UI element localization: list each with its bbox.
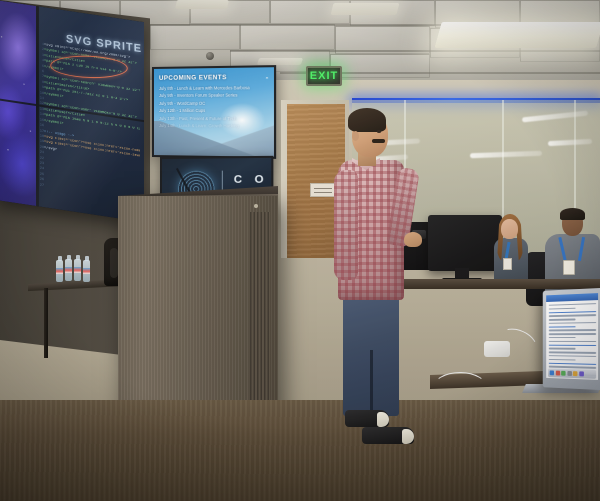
presenter-hand <box>404 232 422 247</box>
dock-icon[interactable] <box>561 371 565 376</box>
water-bottle <box>83 260 90 282</box>
dock-icon[interactable] <box>550 370 554 375</box>
macbook-laptop[interactable] <box>543 288 600 390</box>
ceiling-light-main <box>434 22 600 48</box>
exit-sign: EXIT <box>306 66 342 86</box>
desk-monitor-primary <box>428 215 502 271</box>
podium-vent <box>250 212 270 422</box>
attendee-woman-head <box>501 219 518 239</box>
laptop-document-text <box>549 303 596 378</box>
events-list: July 8th - Lunch & Learn with Mercedes B… <box>159 84 270 130</box>
cove-letter-c: C <box>231 172 246 188</box>
dock-icon[interactable] <box>579 371 584 376</box>
attendee-man-hair <box>560 208 585 220</box>
event-item: July 14th - Lunch & Learn: Growth Hackin… <box>159 122 270 130</box>
exit-sign-label: EXIT <box>310 70 338 82</box>
events-title: UPCOMING EVENTS <box>159 74 227 82</box>
water-bottle <box>65 259 72 281</box>
podium-knob[interactable] <box>254 204 258 208</box>
laptop-window-titlebar <box>546 293 598 302</box>
water-bottle <box>56 260 63 282</box>
dock-icon[interactable] <box>567 371 572 376</box>
dock-icon[interactable] <box>573 371 578 376</box>
event-item: July 9th - WordCamp OC <box>159 99 270 107</box>
laptop-display[interactable] <box>546 293 598 380</box>
room-placard <box>310 183 336 197</box>
water-bottle <box>74 259 81 281</box>
conference-room-scene: 1 2 3 4 5 6 7 8 9 10 11 12 13 14 15 16 1… <box>0 0 600 501</box>
presenter-shoe-left <box>345 410 389 427</box>
presenter-mustache <box>372 139 385 143</box>
upcoming-events-screen[interactable]: UPCOMING EVENTS ◓ July 8th - Lunch & Lea… <box>152 65 276 159</box>
ceiling-light-secondary <box>331 3 400 15</box>
cove-letter-o: O <box>252 171 267 188</box>
ceiling-light-far <box>257 58 303 65</box>
wifi-icon: ◓ <box>265 76 268 82</box>
sprinkler-head <box>206 52 214 60</box>
presenter-arm-near <box>334 170 358 280</box>
presenter-shoe-right <box>362 427 414 444</box>
dock-icon[interactable] <box>555 371 559 376</box>
charging-cable <box>432 372 488 406</box>
presenter-hair <box>348 108 386 132</box>
ceiling-light-tertiary <box>175 0 229 9</box>
macos-dock[interactable] <box>548 368 596 378</box>
id-badge <box>563 260 575 275</box>
id-badge <box>503 258 512 270</box>
carpet-floor <box>0 400 600 501</box>
event-item: July 12th - 1 Million Cups <box>159 107 270 115</box>
video-wall[interactable]: 1 2 3 4 5 6 7 8 9 10 11 12 13 14 15 16 1… <box>0 0 144 222</box>
